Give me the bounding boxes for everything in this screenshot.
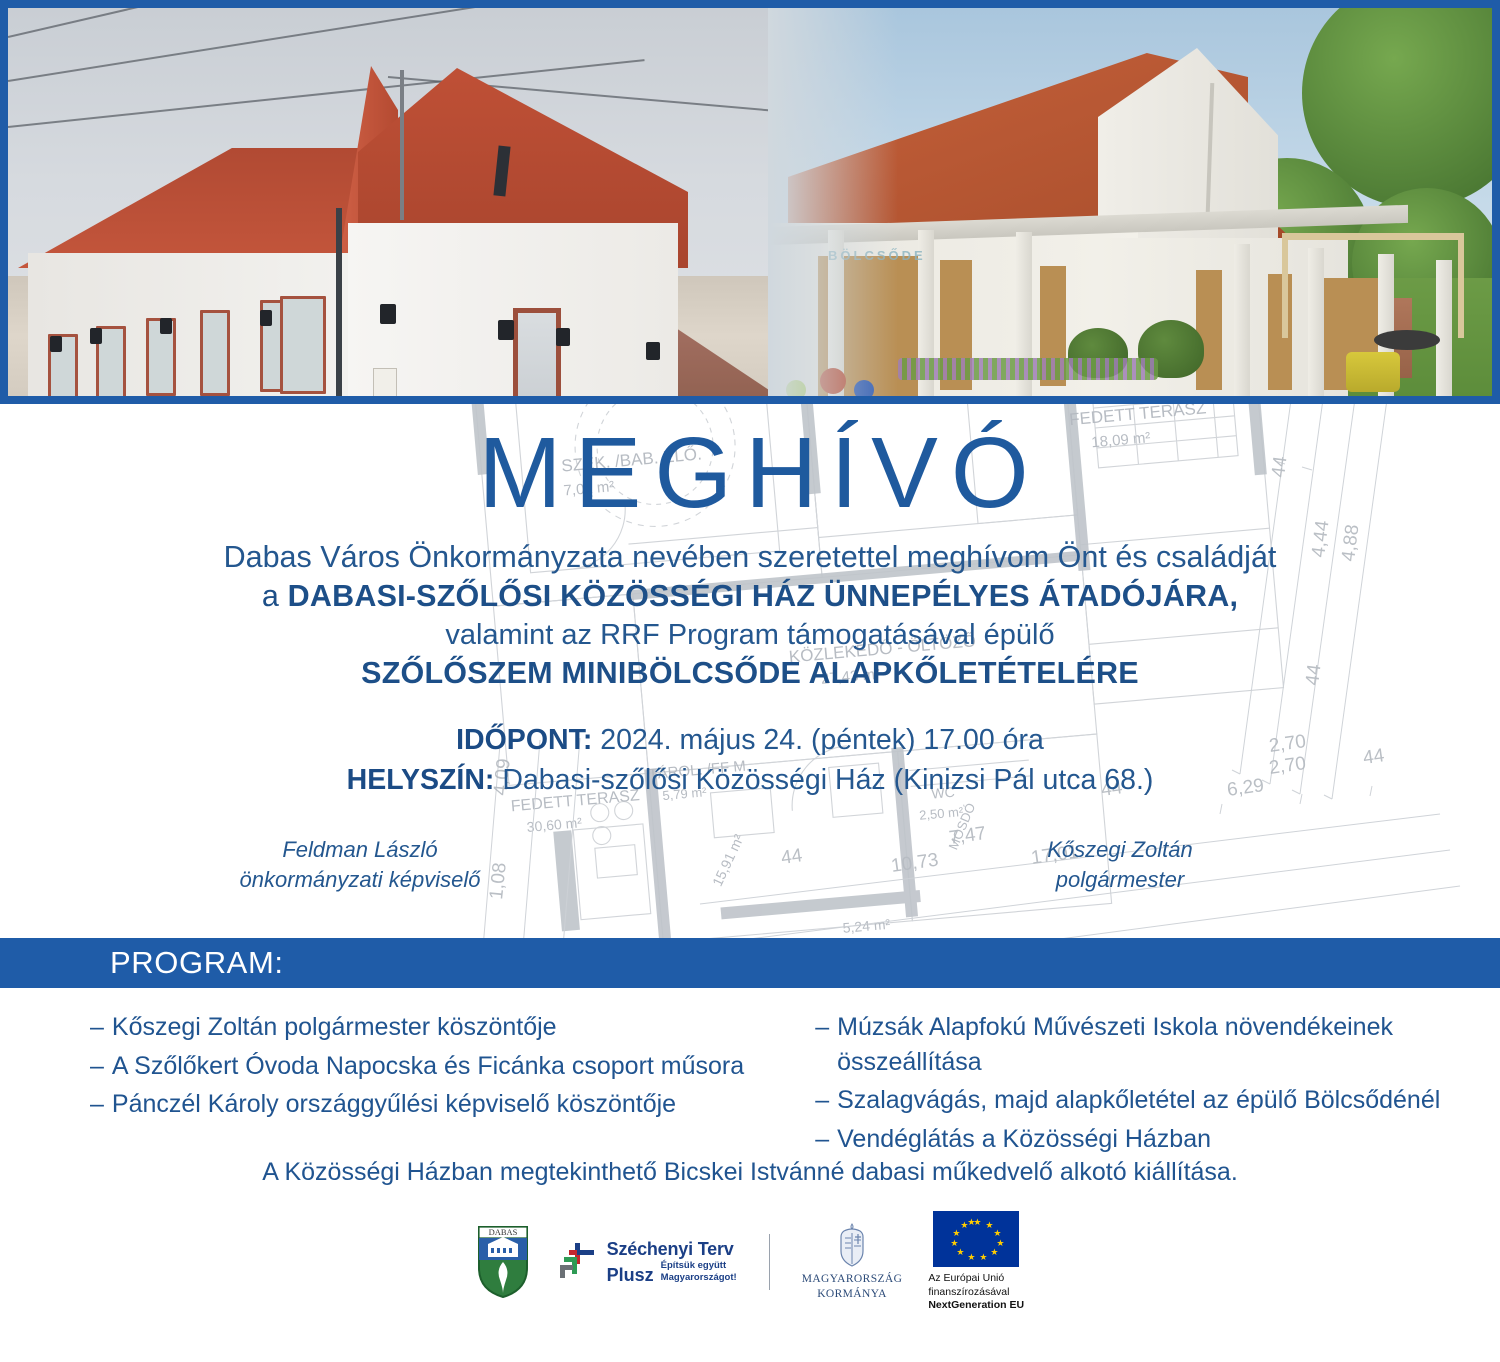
- tricycle: [1346, 352, 1400, 392]
- list-item-label: A Szőlőkert Óvoda Napocska és Ficánka cs…: [112, 1049, 755, 1084]
- logo-row: DABAS Széchenyi Terv Plusz Építsük együt…: [0, 1212, 1500, 1312]
- list-item-label: Múzsák Alapfokú Művészeti Iskola növendé…: [837, 1010, 1500, 1079]
- list-dash: –: [815, 1010, 829, 1079]
- wall-lamp: [556, 328, 570, 346]
- list-item: – Múzsák Alapfokú Művészeti Iskola növen…: [815, 1010, 1500, 1079]
- event-details: IDŐPONT: 2024. május 24. (péntek) 17.00 …: [0, 720, 1500, 801]
- signature-name: Kőszegi Zoltán: [955, 835, 1285, 865]
- szechenyi-terv-plusz-logo: Széchenyi Terv Plusz Építsük együtt Magy…: [556, 1240, 737, 1284]
- photo-nursery-render: BÖLCSŐDE: [768, 8, 1492, 396]
- hungarian-government-logo: MAGYARORSZÁG KORMÁNYA: [802, 1222, 903, 1302]
- szechenyi-wordmark: Széchenyi Terv Plusz Építsük együtt Magy…: [607, 1240, 737, 1284]
- wall-lamp: [498, 320, 514, 340]
- program-banner: PROGRAM:: [0, 938, 1500, 988]
- eu-flag-icon: ★ ★ ★ ★ ★ ★ ★ ★ ★ ★ ★ ★: [933, 1211, 1019, 1267]
- intro-line: Dabas Város Önkormányzata nevében szeret…: [0, 538, 1500, 577]
- eu-line2: finanszírozásával: [928, 1286, 1024, 1300]
- svg-text:30,60 m²: 30,60 m²: [526, 814, 583, 835]
- list-item-label: Pánczél Károly országgyűlési képviselő k…: [112, 1087, 755, 1122]
- list-item: – Szalagvágás, majd alapkőletétel az épü…: [815, 1083, 1500, 1118]
- gov-line2: KORMÁNYA: [802, 1287, 903, 1302]
- list-item: – A Szőlőkert Óvoda Napocska és Ficánka …: [90, 1049, 755, 1084]
- european-union-logo: ★ ★ ★ ★ ★ ★ ★ ★ ★ ★ ★ ★ Az Európai Unió …: [928, 1211, 1024, 1314]
- signature-right: Kőszegi Zoltán polgármester: [955, 835, 1285, 894]
- wall-lamp: [50, 336, 62, 352]
- program-column-right: – Múzsák Alapfokú Művészeti Iskola növen…: [755, 988, 1500, 1168]
- signature-left: Feldman László önkormányzati képviselő: [195, 835, 525, 894]
- photo-blend-gradient: [768, 8, 898, 396]
- list-item-label: Kőszegi Zoltán polgármester köszöntője: [112, 1010, 755, 1045]
- place-label: HELYSZÍN:: [347, 764, 495, 796]
- wall-lamp: [160, 318, 172, 334]
- time-row: IDŐPONT: 2024. május 24. (péntek) 17.00 …: [0, 720, 1500, 760]
- wall-lamp: [260, 310, 272, 326]
- place-row: HELYSZÍN: Dabasi-szőlősi Közösségi Ház (…: [0, 760, 1500, 800]
- slogan-line2: Magyarországot!: [661, 1272, 737, 1283]
- event-main-line-2: SZŐLŐSZEM MINIBÖLCSŐDE ALAPKŐLETÉTELÉRE: [0, 654, 1500, 694]
- signature-role: önkormányzati képviselő: [195, 865, 525, 895]
- eu-funding-text: Az Európai Unió finanszírozásával NextGe…: [928, 1272, 1024, 1314]
- list-item: – Kőszegi Zoltán polgármester köszöntője: [90, 1010, 755, 1045]
- program-banner-label: PROGRAM:: [110, 945, 284, 981]
- window: [200, 310, 230, 396]
- event-sub-line: valamint az RRF Program támogatásával ép…: [0, 617, 1500, 655]
- signature-block: Feldman László önkormányzati képviselő K…: [0, 835, 1500, 905]
- list-dash: –: [90, 1049, 104, 1084]
- invitation-body: SZÉK. /BAB. ELŐ. 7,01 m² KÖZLEKEDŐ - ÖLT…: [0, 404, 1500, 938]
- wall-lamp: [90, 328, 102, 344]
- szechenyi-line2: Plusz: [607, 1266, 654, 1284]
- time-label: IDŐPONT:: [456, 724, 592, 756]
- time-value: 2024. május 24. (péntek) 17.00 óra: [600, 724, 1044, 756]
- photo-strip: BÖLCSŐDE: [8, 8, 1492, 396]
- swing-seat: [1374, 330, 1440, 350]
- place-value: Dabasi-szőlősi Közösségi Ház (Kinizsi Pá…: [502, 764, 1153, 796]
- dabas-crest-icon: DABAS: [476, 1224, 530, 1300]
- headline-block: MEGHÍVÓ Dabas Város Önkormányzata nevébe…: [0, 422, 1500, 801]
- photo-community-house: [8, 8, 768, 396]
- program-column-left: – Kőszegi Zoltán polgármester köszöntője…: [0, 988, 755, 1168]
- logo-divider: [769, 1234, 770, 1290]
- photo-band: BÖLCSŐDE: [0, 0, 1500, 404]
- event-main-line: a DABASI-SZŐLŐSI KÖZÖSSÉGI HÁZ ÜNNEPÉLYE…: [0, 577, 1500, 617]
- wall-lamp: [646, 342, 660, 360]
- szechenyi-line1: Széchenyi Terv: [607, 1240, 737, 1258]
- list-dash: –: [815, 1083, 829, 1118]
- column: [1234, 244, 1250, 396]
- signature-name: Feldman László: [195, 835, 525, 865]
- event-lead: a: [262, 579, 279, 613]
- page-title: MEGHÍVÓ: [0, 422, 1500, 524]
- door: [1196, 270, 1222, 390]
- list-dash: –: [815, 1122, 829, 1157]
- window: [280, 296, 326, 394]
- exhibition-note: A Közösségi Házban megtekinthető Bicskei…: [0, 1158, 1500, 1187]
- flower-bed: [898, 358, 1158, 380]
- eu-line3: NextGeneration EU: [928, 1299, 1024, 1311]
- eu-line1: Az Európai Unió: [928, 1272, 1024, 1286]
- event-main: DABASI-SZŐLŐSI KÖZÖSSÉGI HÁZ ÜNNEPÉLYES …: [288, 579, 1239, 613]
- list-item-label: Vendéglátás a Közösségi Házban: [837, 1122, 1500, 1157]
- downpipe: [336, 208, 342, 396]
- list-dash: –: [90, 1010, 104, 1045]
- wall-lamp: [380, 304, 396, 324]
- svg-text:DABAS: DABAS: [488, 1227, 517, 1237]
- utility-pole: [400, 70, 404, 220]
- signature-role: polgármester: [955, 865, 1285, 895]
- list-item: – Vendéglátás a Közösségi Házban: [815, 1122, 1500, 1157]
- swing-frame: [1282, 233, 1464, 338]
- list-dash: –: [90, 1087, 104, 1122]
- szechenyi-plus-icon: [556, 1241, 598, 1283]
- slogan-line1: Építsük együtt: [661, 1260, 726, 1271]
- szechenyi-slogan: Építsük együtt Magyarországot!: [661, 1260, 737, 1284]
- meter-box: [373, 368, 397, 396]
- hungary-coat-of-arms-icon: [834, 1222, 870, 1268]
- program-lists: – Kőszegi Zoltán polgármester köszöntője…: [0, 988, 1500, 1168]
- government-wordmark: MAGYARORSZÁG KORMÁNYA: [802, 1272, 903, 1302]
- list-item: – Pánczél Károly országgyűlési képviselő…: [90, 1087, 755, 1122]
- list-item-label: Szalagvágás, majd alapkőletétel az épülő…: [837, 1083, 1500, 1118]
- dabas-coat-of-arms-logo: DABAS: [476, 1224, 530, 1300]
- entrance-door: [513, 308, 561, 396]
- gov-line1: MAGYARORSZÁG: [802, 1272, 903, 1287]
